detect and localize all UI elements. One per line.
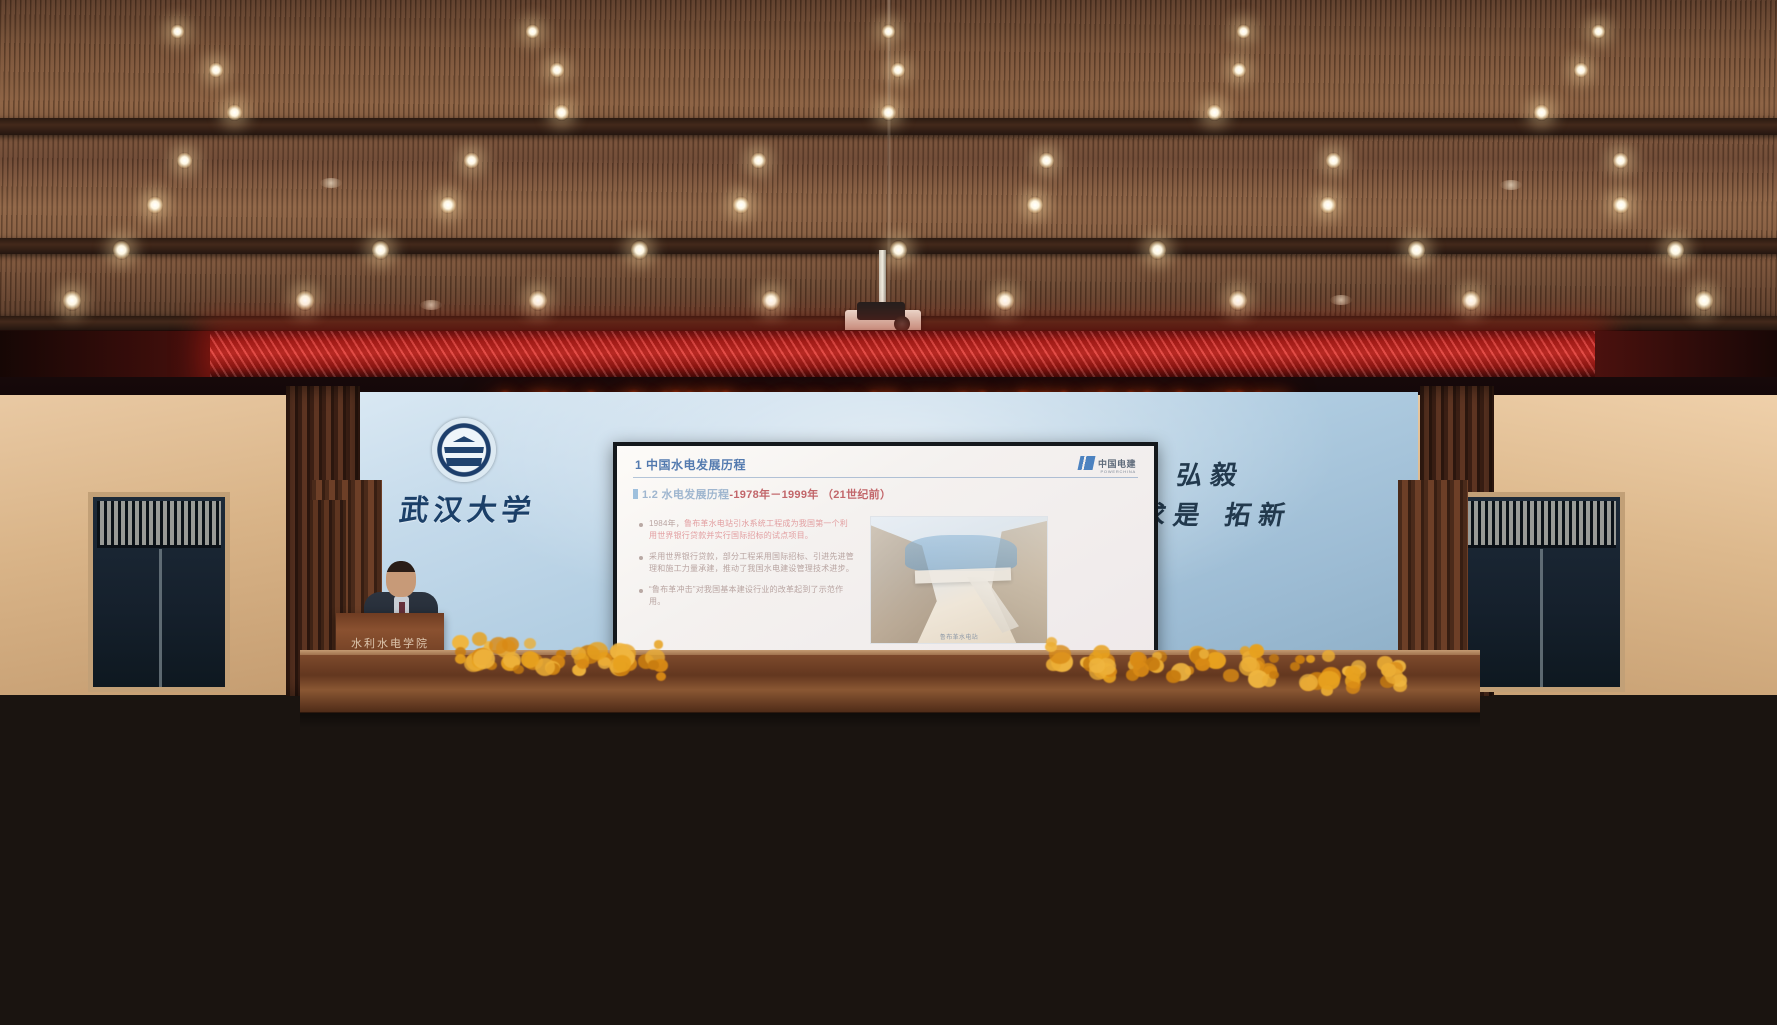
ceiling-downlight	[631, 240, 648, 260]
door-transom-right	[1464, 501, 1616, 548]
slide-subtitle: 1.2 水电发展历程-1978年－1999年 （21世纪前）	[633, 486, 891, 502]
ceiling-downlight	[177, 152, 192, 169]
motto-line-2: 求是 拓新	[1137, 495, 1297, 532]
ceiling-downlight	[1039, 152, 1054, 169]
ceiling-downlight	[1149, 240, 1166, 260]
ceiling	[0, 0, 1777, 345]
ceiling-downlight	[113, 240, 130, 260]
powerchina-logo-mark-icon	[1077, 456, 1095, 470]
ceiling-downlight	[1326, 152, 1341, 169]
door-transom-left	[97, 501, 221, 548]
slide-bullet: 1984年，鲁布革水电站引水系统工程成为我国第一个利用世界银行贷款并实行国际招标…	[639, 518, 854, 542]
led-strip-right	[1595, 331, 1777, 377]
ceiling-downlight	[63, 290, 81, 311]
ceiling-downlight	[1320, 196, 1336, 214]
subtitle-range: -1978年－1999年	[729, 489, 818, 501]
slide-divider	[633, 477, 1138, 478]
ceiling-downlight	[227, 104, 242, 121]
ceiling-downlight	[464, 152, 479, 169]
smoke-detector	[420, 300, 442, 310]
ceiling-downlight	[1695, 290, 1713, 311]
smoke-detector	[1330, 295, 1352, 305]
ceiling-downlight	[882, 24, 895, 39]
audience-area: THE NORTH FACEIN COMINGRAMPO	[0, 560, 1777, 1025]
ceiling-downlight	[996, 290, 1014, 311]
smoke-detector	[1500, 180, 1522, 190]
emblem-gate-icon	[444, 436, 484, 466]
lecture-hall-photo: 水利水电学院2022级工科试验班校友讲坛 武汉大学 自强 弘毅 求是 拓新 1 …	[0, 0, 1777, 1025]
led-light-strip	[210, 331, 1600, 377]
ceiling-downlight	[372, 240, 389, 260]
ceiling-downlight	[171, 24, 184, 39]
wuhan-university-emblem-icon	[432, 418, 496, 482]
powerchina-logo-text: 中国电建	[1098, 457, 1136, 470]
powerchina-logo: 中国电建	[1079, 456, 1136, 470]
subtitle-note: （21世纪前）	[822, 489, 891, 501]
bullet-dot-icon	[639, 523, 643, 527]
slide-section-title: 1 中国水电发展历程	[635, 456, 746, 473]
ceiling-downlight	[1237, 24, 1250, 39]
subtitle-prefix: 1.2 水电发展历程	[642, 489, 729, 501]
smoke-detector	[320, 178, 342, 188]
ceiling-downlight	[554, 104, 569, 121]
ceiling-downlight	[881, 104, 896, 121]
ceiling-downlight	[1574, 62, 1588, 78]
subtitle-bullet-icon	[633, 489, 638, 499]
led-strip-left	[0, 331, 215, 377]
ceiling-downlight	[529, 290, 547, 311]
ceiling-downlight	[550, 62, 564, 78]
powerchina-logo-subtext: POWERCHINA	[1100, 469, 1136, 474]
ceiling-downlight	[1408, 240, 1425, 260]
ceiling-downlight	[1667, 240, 1684, 260]
university-name: 武汉大学	[385, 487, 551, 529]
bullet-text: 1984年，鲁布革水电站引水系统工程成为我国第一个利用世界银行贷款并实行国际招标…	[649, 518, 854, 542]
bullet-lead: 1984年，	[649, 519, 684, 528]
ceiling-downlight	[526, 24, 539, 39]
ceiling-downlight	[1027, 196, 1043, 214]
ceiling-downlight	[296, 290, 314, 311]
ceiling-seam	[887, 0, 890, 345]
ceiling-downlight	[762, 290, 780, 311]
ceiling-downlight	[1229, 290, 1247, 311]
ceiling-downlight	[1462, 290, 1480, 311]
ceiling-downlight	[890, 240, 907, 260]
ceiling-downlight	[209, 62, 223, 78]
